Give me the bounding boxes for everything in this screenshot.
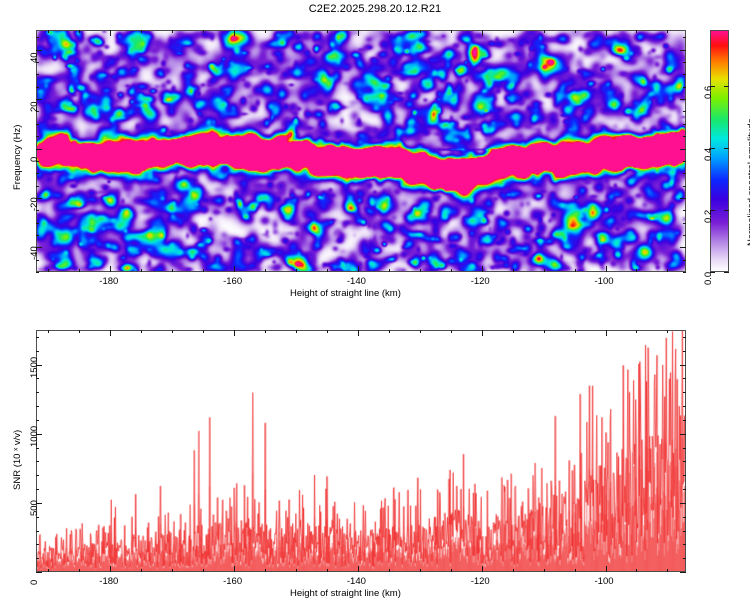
axis-tick: [683, 337, 686, 338]
xtick-label: -140: [347, 576, 366, 587]
axis-tick: [683, 351, 686, 352]
axis-tick: [110, 30, 111, 36]
axis-tick: [420, 569, 421, 572]
axis-tick: [358, 266, 359, 272]
axis-tick: [683, 378, 686, 379]
axis-tick: [482, 330, 483, 336]
axis-tick: [36, 420, 39, 421]
axis-tick: [544, 569, 545, 572]
axis-tick: [667, 30, 668, 33]
axis-tick: [79, 30, 80, 33]
axis-tick: [420, 330, 421, 333]
axis-tick: [36, 392, 39, 393]
axis-tick: [36, 74, 39, 75]
axis-tick: [203, 30, 204, 33]
axis-tick: [110, 330, 111, 336]
axis-tick: [683, 461, 686, 462]
axis-tick: [36, 50, 42, 51]
axis-tick: [141, 330, 142, 333]
ytick-label: 1500: [29, 356, 40, 377]
axis-tick: [327, 569, 328, 572]
figure-title: C2E2.2025.298.20.12.R21: [0, 3, 750, 15]
axis-tick: [482, 566, 483, 572]
axis-tick: [636, 569, 637, 572]
spectrogram-xaxis-title: Height of straight line (km): [290, 288, 401, 299]
ytick-label: -20: [29, 197, 40, 211]
axis-tick: [36, 235, 39, 236]
axis-tick: [36, 448, 39, 449]
axis-tick: [172, 30, 173, 33]
axis-tick: [680, 247, 686, 248]
axis-tick: [451, 569, 452, 572]
axis-tick: [36, 475, 39, 476]
axis-tick: [79, 569, 80, 572]
xtick-label: -120: [471, 276, 490, 287]
axis-tick: [451, 30, 452, 33]
axis-tick: [36, 572, 42, 573]
axis-tick: [683, 161, 686, 162]
axis-tick: [680, 503, 686, 504]
axis-tick: [358, 566, 359, 572]
axis-tick: [48, 330, 49, 333]
axis-tick: [265, 330, 266, 333]
axis-tick: [636, 330, 637, 333]
axis-tick: [265, 269, 266, 272]
axis-tick: [683, 186, 686, 187]
xtick-label: -120: [471, 576, 490, 587]
axis-tick: [683, 136, 686, 137]
spectrogram-yaxis-title: Frequency (Hz): [12, 125, 23, 190]
axis-tick: [683, 223, 686, 224]
axis-tick: [683, 272, 686, 273]
ytick-label: 0: [29, 156, 40, 161]
axis-tick: [234, 566, 235, 572]
axis-tick: [36, 272, 39, 273]
axis-tick: [265, 569, 266, 572]
axis-tick: [36, 337, 39, 338]
axis-tick: [79, 330, 80, 333]
axis-tick: [36, 531, 39, 532]
axis-tick: [203, 269, 204, 272]
xtick-label: -100: [595, 276, 614, 287]
axis-tick: [79, 269, 80, 272]
axis-tick: [36, 99, 42, 100]
axis-tick: [389, 269, 390, 272]
axis-tick: [36, 558, 39, 559]
axis-tick: [36, 186, 39, 187]
axis-tick: [48, 30, 49, 33]
axis-tick: [36, 223, 39, 224]
colorbar-tick-label: 0.6: [703, 86, 714, 99]
axis-tick: [482, 30, 483, 36]
axis-tick: [36, 87, 39, 88]
axis-tick: [683, 517, 686, 518]
axis-tick: [110, 266, 111, 272]
axis-tick: [234, 30, 235, 36]
snr-trace: [37, 331, 685, 571]
axis-tick: [683, 420, 686, 421]
axis-tick: [680, 149, 686, 150]
axis-tick: [683, 448, 686, 449]
axis-tick: [683, 62, 686, 63]
axis-tick: [513, 569, 514, 572]
axis-tick: [48, 569, 49, 572]
axis-tick: [683, 392, 686, 393]
axis-tick: [544, 269, 545, 272]
axis-tick: [680, 50, 686, 51]
axis-tick: [683, 544, 686, 545]
axis-tick: [296, 269, 297, 272]
axis-tick: [482, 266, 483, 272]
axis-tick: [667, 269, 668, 272]
axis-tick: [636, 30, 637, 33]
axis-tick: [296, 330, 297, 333]
axis-tick: [683, 124, 686, 125]
axis-tick: [420, 30, 421, 33]
axis-tick: [451, 330, 452, 333]
axis-tick: [451, 269, 452, 272]
axis-tick: [683, 406, 686, 407]
axis-tick: [683, 111, 686, 112]
axis-tick: [683, 74, 686, 75]
axis-tick: [296, 569, 297, 572]
axis-tick: [724, 210, 729, 211]
axis-tick: [36, 351, 39, 352]
axis-tick: [141, 269, 142, 272]
axis-tick: [110, 566, 111, 572]
axis-tick: [680, 99, 686, 100]
axis-tick: [667, 330, 668, 333]
axis-tick: [36, 378, 39, 379]
snr-panel: [36, 330, 686, 572]
xtick-label: -180: [99, 576, 118, 587]
axis-tick: [203, 569, 204, 572]
ytick-label: 40: [29, 52, 40, 63]
spectrogram-image: [37, 31, 685, 271]
axis-tick: [389, 569, 390, 572]
xtick-label: -100: [595, 576, 614, 587]
axis-tick: [36, 406, 39, 407]
snr-yaxis-title: SNR (10 ˣ v/v): [12, 430, 23, 490]
axis-tick: [420, 269, 421, 272]
xtick-label: -160: [223, 276, 242, 287]
axis-tick: [683, 475, 686, 476]
axis-tick: [575, 30, 576, 33]
axis-tick: [683, 87, 686, 88]
axis-tick: [636, 269, 637, 272]
colorbar-title: Normalized spectral amplitude: [746, 118, 750, 246]
axis-tick: [606, 30, 607, 36]
ytick-label: 500: [29, 500, 40, 516]
axis-tick: [513, 330, 514, 333]
axis-tick: [141, 569, 142, 572]
axis-tick: [389, 330, 390, 333]
axis-tick: [724, 148, 729, 149]
axis-tick: [683, 531, 686, 532]
axis-tick: [724, 86, 729, 87]
axis-tick: [683, 558, 686, 559]
axis-tick: [172, 330, 173, 333]
axis-tick: [36, 124, 39, 125]
axis-tick: [683, 210, 686, 211]
axis-tick: [36, 136, 39, 137]
axis-tick: [36, 461, 39, 462]
axis-tick: [36, 544, 39, 545]
axis-tick: [680, 365, 686, 366]
axis-tick: [296, 30, 297, 33]
xtick-label: -140: [347, 276, 366, 287]
axis-tick: [234, 330, 235, 336]
axis-tick: [203, 330, 204, 333]
axis-tick: [724, 272, 729, 273]
axis-tick: [327, 330, 328, 333]
colorbar-tick-label: 0.0: [703, 272, 714, 285]
axis-tick: [36, 517, 39, 518]
ytick-label: 1000: [29, 426, 40, 447]
axis-tick: [680, 198, 686, 199]
axis-tick: [358, 30, 359, 36]
axis-tick: [606, 566, 607, 572]
axis-tick: [172, 269, 173, 272]
xtick-label: -180: [99, 276, 118, 287]
axis-tick: [680, 572, 686, 573]
axis-tick: [606, 330, 607, 336]
ytick-label: 0: [29, 580, 40, 585]
axis-tick: [606, 266, 607, 272]
axis-tick: [683, 235, 686, 236]
axis-tick: [36, 149, 42, 150]
axis-tick: [327, 269, 328, 272]
axis-tick: [575, 330, 576, 333]
axis-tick: [575, 569, 576, 572]
xtick-label: -160: [223, 576, 242, 587]
axis-tick: [544, 330, 545, 333]
axis-tick: [683, 173, 686, 174]
axis-tick: [36, 37, 39, 38]
axis-tick: [513, 30, 514, 33]
axis-tick: [327, 30, 328, 33]
colorbar-tick-label: 0.2: [703, 210, 714, 223]
ytick-label: -40: [29, 247, 40, 261]
axis-tick: [265, 30, 266, 33]
axis-tick: [667, 569, 668, 572]
axis-tick: [513, 269, 514, 272]
axis-tick: [358, 330, 359, 336]
axis-tick: [683, 260, 686, 261]
axis-tick: [36, 489, 39, 490]
colorbar-tick-label: 0.4: [703, 148, 714, 161]
axis-tick: [234, 266, 235, 272]
axis-tick: [575, 269, 576, 272]
snr-xaxis-title: Height of straight line (km): [290, 588, 401, 599]
axis-tick: [683, 489, 686, 490]
figure-root: C2E2.2025.298.20.12.R21 -180-160-140-120…: [0, 0, 750, 600]
ytick-label: 20: [29, 102, 40, 113]
axis-tick: [48, 269, 49, 272]
spectrogram-panel: [36, 30, 686, 272]
axis-tick: [680, 434, 686, 435]
axis-tick: [683, 37, 686, 38]
axis-tick: [389, 30, 390, 33]
axis-tick: [172, 569, 173, 572]
axis-tick: [141, 30, 142, 33]
axis-tick: [36, 173, 39, 174]
axis-tick: [544, 30, 545, 33]
